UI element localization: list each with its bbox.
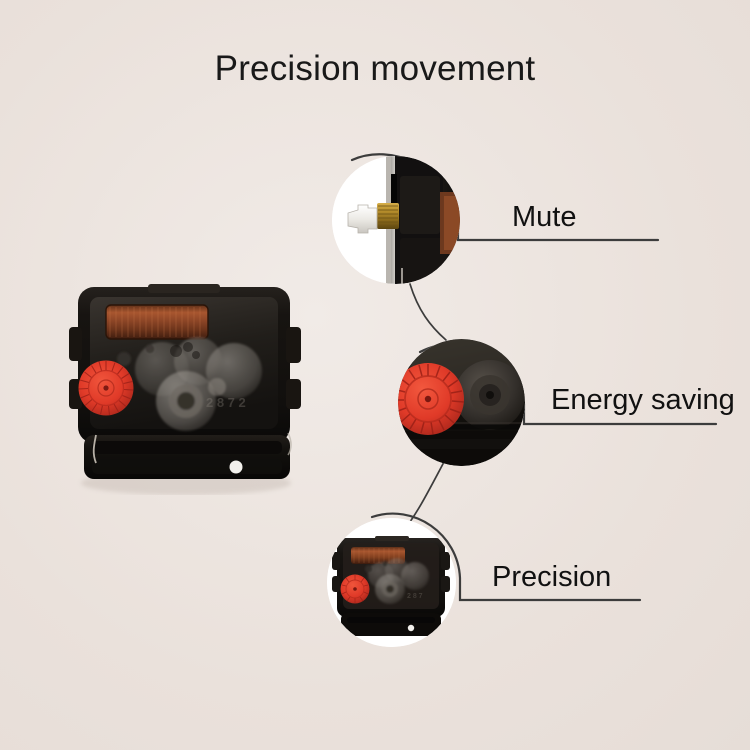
detail-circle-mute (332, 156, 460, 284)
callout-label-precision: Precision (492, 560, 611, 594)
product-infographic-poster: Precision movement (0, 0, 750, 750)
callout-label-energy-saving: Energy saving (551, 383, 735, 417)
svg-text:2 8 7: 2 8 7 (407, 593, 423, 600)
callout-label-mute: Mute (512, 200, 576, 234)
detail-circle-precision: 2 8 7 (327, 518, 456, 647)
detail-circle-energy-saving (398, 339, 525, 466)
